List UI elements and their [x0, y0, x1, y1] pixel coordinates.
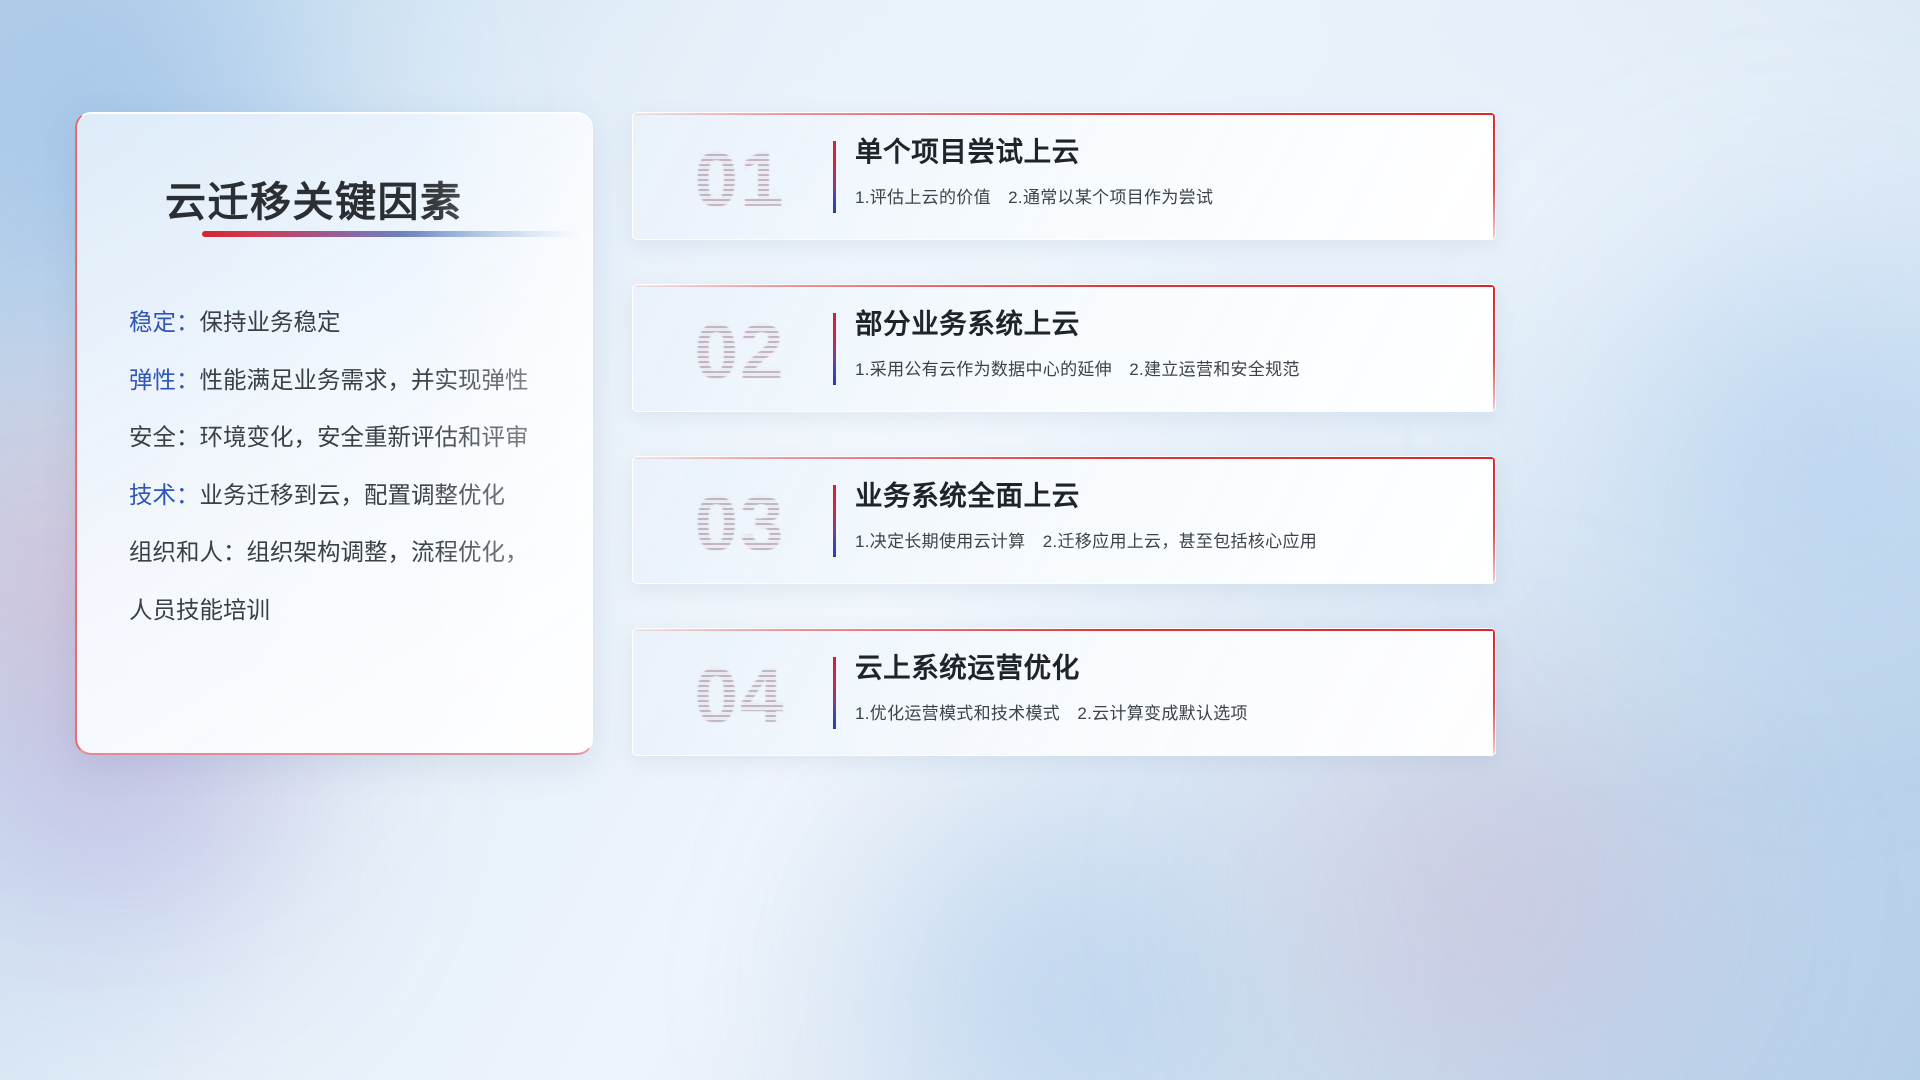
card-right-accent-line [1493, 629, 1495, 755]
factor-label: 安全： [129, 424, 200, 450]
factor-label: 弹性： [129, 367, 200, 393]
migration-steps-list: 01单个项目尝试上云1.评估上云的价值 2.通常以某个项目作为尝试02部分业务系… [632, 112, 1496, 756]
card-body: 业务系统全面上云1.决定长期使用云计算 2.迁移应用上云，甚至包括核心应用 [855, 479, 1469, 552]
step-card[interactable]: 02部分业务系统上云1.采用公有云作为数据中心的延伸 2.建立运营和安全规范 [632, 284, 1496, 412]
factor-row: 人员技能培训 [129, 599, 568, 623]
factor-row: 稳定：保持业务稳定 [129, 311, 568, 335]
card-divider-bar [833, 141, 836, 213]
card-top-accent-line [633, 285, 1495, 287]
step-title: 部分业务系统上云 [855, 307, 1469, 340]
card-divider-bar [833, 313, 836, 385]
step-description: 1.采用公有云作为数据中心的延伸 2.建立运营和安全规范 [855, 355, 1469, 380]
card-body: 单个项目尝试上云1.评估上云的价值 2.通常以某个项目作为尝试 [855, 135, 1469, 208]
title-underline-gradient [202, 231, 580, 237]
key-factors-panel: 云迁移关键因素 稳定：保持业务稳定弹性：性能满足业务需求，并实现弹性安全：环境变… [75, 112, 593, 755]
card-top-accent-line [633, 457, 1495, 459]
factor-text: 人员技能培训 [129, 597, 270, 623]
key-factors-list: 稳定：保持业务稳定弹性：性能满足业务需求，并实现弹性安全：环境变化，安全重新评估… [129, 311, 568, 622]
step-card[interactable]: 03业务系统全面上云1.决定长期使用云计算 2.迁移应用上云，甚至包括核心应用 [632, 456, 1496, 584]
slide-stage: 云迁移关键因素 稳定：保持业务稳定弹性：性能满足业务需求，并实现弹性安全：环境变… [0, 0, 1920, 1080]
factor-text: 环境变化，安全重新评估和评审 [200, 424, 529, 450]
factor-label: 组织和人： [129, 539, 247, 565]
factor-row: 技术：业务迁移到云，配置调整优化 [129, 484, 568, 508]
factor-text: 组织架构调整，流程优化， [247, 539, 529, 565]
step-description: 1.优化运营模式和技术模式 2.云计算变成默认选项 [855, 699, 1469, 724]
step-number-watermark: 04 [655, 645, 825, 745]
step-number-watermark: 01 [655, 129, 825, 229]
step-title: 云上系统运营优化 [855, 651, 1469, 684]
card-body: 部分业务系统上云1.采用公有云作为数据中心的延伸 2.建立运营和安全规范 [855, 307, 1469, 380]
card-divider-bar [833, 485, 836, 557]
step-title: 业务系统全面上云 [855, 479, 1469, 512]
step-number-watermark: 02 [655, 301, 825, 401]
card-right-accent-line [1493, 285, 1495, 411]
factor-text: 业务迁移到云，配置调整优化 [200, 482, 506, 508]
step-description: 1.决定长期使用云计算 2.迁移应用上云，甚至包括核心应用 [855, 527, 1469, 552]
factor-label: 技术： [129, 482, 200, 508]
card-right-accent-line [1493, 457, 1495, 583]
card-body: 云上系统运营优化1.优化运营模式和技术模式 2.云计算变成默认选项 [855, 651, 1469, 724]
factor-text: 性能满足业务需求，并实现弹性 [200, 367, 529, 393]
factor-row: 组织和人：组织架构调整，流程优化， [129, 541, 568, 565]
factor-label: 稳定： [129, 309, 200, 335]
step-card[interactable]: 01单个项目尝试上云1.评估上云的价值 2.通常以某个项目作为尝试 [632, 112, 1496, 240]
factor-row: 安全：环境变化，安全重新评估和评审 [129, 426, 568, 450]
step-title: 单个项目尝试上云 [855, 135, 1469, 168]
step-number-watermark: 03 [655, 473, 825, 573]
step-card[interactable]: 04云上系统运营优化1.优化运营模式和技术模式 2.云计算变成默认选项 [632, 628, 1496, 756]
factor-row: 弹性：性能满足业务需求，并实现弹性 [129, 369, 568, 393]
card-right-accent-line [1493, 113, 1495, 239]
page-title: 云迁移关键因素 [165, 168, 463, 228]
step-description: 1.评估上云的价值 2.通常以某个项目作为尝试 [855, 183, 1469, 208]
factor-text: 保持业务稳定 [200, 309, 341, 335]
card-top-accent-line [633, 629, 1495, 631]
card-top-accent-line [633, 113, 1495, 115]
card-divider-bar [833, 657, 836, 729]
